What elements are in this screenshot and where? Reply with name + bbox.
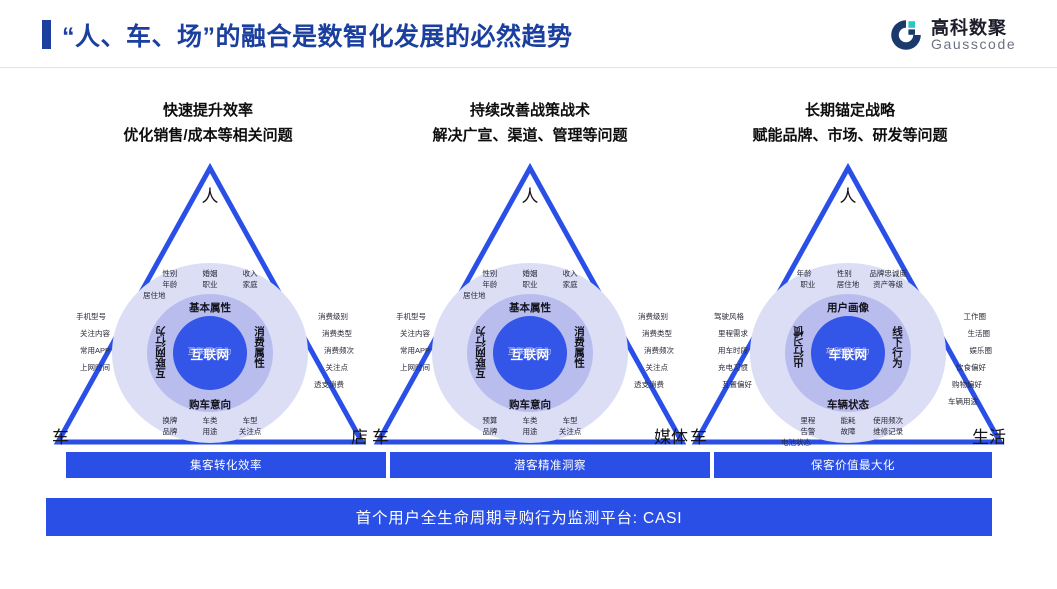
attribute-label: 用途 — [195, 426, 225, 437]
attribute-label: 年龄 — [155, 279, 185, 290]
attribute-label: 性别 — [155, 268, 185, 279]
label-row: 居住地 — [445, 290, 615, 301]
attribute-label: 透支消费 — [276, 376, 354, 393]
attribute-label: 性别 — [475, 268, 505, 279]
attribute-label: 手机型号 — [392, 308, 470, 325]
outcome-bar-2: 保客价值最大化 — [714, 452, 992, 478]
title-accent-bar — [42, 20, 51, 49]
labels-top-group: 性别 婚姻 收入 年龄 职业 家庭 居住地 — [125, 268, 295, 301]
attribute-label: 工作圈 — [914, 308, 992, 325]
attribute-label: 手机型号 — [72, 308, 150, 325]
attribute-label: 消费类型 — [596, 325, 674, 342]
attribute-label: 居住地 — [463, 290, 493, 301]
slide-header: “人、车、场”的融合是数智化发展的必然趋势 高科数聚 Gausscode — [0, 0, 1057, 68]
corner-label-bottom-left: 车 — [52, 423, 69, 448]
attribute-label: 性别 — [829, 268, 859, 279]
page-title: “人、车、场”的融合是数智化发展的必然趋势 — [62, 17, 573, 53]
corner-label-bottom-right: 媒体 — [654, 423, 688, 448]
header-divider — [0, 67, 1057, 68]
label-row: 品牌 用途 关注点 — [125, 426, 295, 437]
attribute-label: 消费级别 — [596, 308, 674, 325]
label-row: 性别 婚姻 收入 — [445, 268, 615, 279]
labels-top-group: 性别 婚姻 收入 年龄 职业 家庭 居住地 — [445, 268, 615, 301]
corner-label-bottom-left: 车 — [690, 423, 707, 448]
watermark-text: 互联网行为 — [508, 346, 553, 357]
outcome-bar-label: 集客转化效率 — [190, 457, 262, 473]
label-row: 品牌 用途 关注点 — [445, 426, 615, 437]
attribute-label: 职业 — [195, 279, 225, 290]
corner-label-apex: 人 — [840, 182, 857, 207]
attribute-label: 关注点 — [596, 359, 674, 376]
attribute-label: 告警 — [793, 426, 823, 437]
attribute-label: 维修记录 — [873, 426, 903, 437]
label-row: 年龄 职业 家庭 — [125, 279, 295, 290]
triangle-panel-0: 人 车 店 互联网 互联网行为 基本属性 购车意向 互联网行为 消费属性 性别 … — [50, 160, 370, 450]
attribute-label: 消费级别 — [276, 308, 354, 325]
attribute-label: 车类 — [515, 415, 545, 426]
label-row: 居住地 — [125, 290, 295, 301]
brand-logo: 高科数聚 Gausscode — [889, 14, 1039, 58]
attribute-label: 购物偏好 — [914, 376, 992, 393]
label-row: 年龄 职业 家庭 — [445, 279, 615, 290]
attribute-label: 关注内容 — [392, 325, 470, 342]
logo-en-name: Gausscode — [931, 36, 1016, 52]
attribute-label: 婚姻 — [515, 268, 545, 279]
attribute-label: 关注点 — [235, 426, 265, 437]
attribute-label: 故障 — [833, 426, 863, 437]
labels-bottom-group: 预算 车类 车型 品牌 用途 关注点 — [445, 415, 615, 437]
heading-line-1: 长期锚定战略 — [680, 98, 1020, 123]
attribute-label: 换牌 — [155, 415, 185, 426]
attribute-label: 常用APP — [72, 342, 150, 359]
attribute-label: 生活圈 — [914, 325, 992, 342]
label-row: 换牌 车类 车型 — [125, 415, 295, 426]
triangle-panel-2: 人 车 生活 车联网 车联网行为 用户画像 车辆状态 出行习惯 线下行为 年龄 … — [688, 160, 1008, 450]
labels-bottom-group: 里程 能耗 使用频次 告警 故障 维修记录 电池状态 — [763, 415, 933, 448]
corner-label-bottom-right: 生活 — [972, 423, 1006, 448]
watermark-text: 互联网行为 — [188, 346, 233, 357]
section-title-left: 互联网行为 — [473, 326, 488, 379]
section-title-right: 消费属性 — [572, 326, 587, 368]
column-heading-1: 持续改善战策战术 解决广宣、渠道、管理等问题 — [360, 98, 700, 148]
heading-line-1: 持续改善战策战术 — [360, 98, 700, 123]
attribute-label: 关注点 — [276, 359, 354, 376]
attribute-label: 年龄 — [789, 268, 819, 279]
attribute-label: 里程 — [793, 415, 823, 426]
attribute-label: 收入 — [555, 268, 585, 279]
attribute-label: 消费类型 — [276, 325, 354, 342]
attribute-label: 车类 — [195, 415, 225, 426]
section-title-top: 基本属性 — [189, 300, 231, 315]
outcome-bar-label: 保客价值最大化 — [811, 457, 895, 473]
watermark-text: 车联网行为 — [826, 346, 871, 357]
outcome-bar-1: 潜客精准洞察 — [390, 452, 710, 478]
attribute-label: 年龄 — [475, 279, 505, 290]
heading-line-2: 解决广宣、渠道、管理等问题 — [360, 123, 700, 148]
outcome-bar-label: 潜客精准洞察 — [514, 457, 586, 473]
corner-label-apex: 人 — [202, 182, 219, 207]
attribute-label: 家庭 — [235, 279, 265, 290]
attribute-label: 互置偏好 — [710, 376, 788, 393]
section-title-top: 用户画像 — [827, 300, 869, 315]
attribute-label: 居住地 — [143, 290, 173, 301]
labels-left-group: 手机型号 关注内容 常用APP 上网时间 — [392, 308, 470, 376]
slide-root: “人、车、场”的融合是数智化发展的必然趋势 高科数聚 Gausscode 快速提… — [0, 0, 1057, 589]
corner-label-apex: 人 — [522, 182, 539, 207]
footer-label: 首个用户全生命周期寻购行为监测平台: CASI — [356, 506, 683, 528]
attribute-label: 家庭 — [555, 279, 585, 290]
section-title-bottom: 购车意向 — [509, 397, 551, 412]
section-title-bottom: 车辆状态 — [827, 397, 869, 412]
attribute-label: 婚姻 — [195, 268, 225, 279]
attribute-label: 关注点 — [555, 426, 585, 437]
attribute-label: 用车时段 — [710, 342, 788, 359]
footer-banner: 首个用户全生命周期寻购行为监测平台: CASI — [46, 498, 992, 536]
attribute-label: 使用频次 — [873, 415, 903, 426]
corner-label-bottom-right: 店 — [351, 423, 368, 448]
label-row: 告警 故障 维修记录 — [763, 426, 933, 437]
label-row: 职业 居住地 资产等级 — [763, 279, 933, 290]
section-title-right: 线下行为 — [890, 326, 905, 368]
labels-top-group: 年龄 性别 品牌忠诚度 职业 居住地 资产等级 — [763, 268, 933, 290]
heading-line-1: 快速提升效率 — [38, 98, 378, 123]
gausscode-c-mark-icon — [889, 18, 923, 52]
attribute-label: 能耗 — [833, 415, 863, 426]
labels-right-group: 工作圈 生活圈 娱乐圈 饮食偏好 购物偏好 车辆用途 — [914, 308, 992, 410]
attribute-label: 预算 — [475, 415, 505, 426]
heading-line-2: 赋能品牌、市场、研发等问题 — [680, 123, 1020, 148]
labels-left-group: 手机型号 关注内容 常用APP 上网时间 — [72, 308, 150, 376]
attribute-label: 上网时间 — [392, 359, 470, 376]
attribute-label: 娱乐圈 — [914, 342, 992, 359]
label-row: 电池状态 — [763, 437, 933, 448]
corner-label-bottom-left: 车 — [372, 423, 389, 448]
attribute-label: 品牌忠诚度 — [869, 268, 907, 279]
label-row: 年龄 性别 品牌忠诚度 — [763, 268, 933, 279]
attribute-label: 车辆用途 — [914, 393, 992, 410]
column-heading-0: 快速提升效率 优化销售/成本等相关问题 — [38, 98, 378, 148]
triangle-panel-1: 人 车 媒体 互联网 互联网行为 基本属性 购车意向 互联网行为 消费属性 性别… — [370, 160, 690, 450]
attribute-label: 消费频次 — [596, 342, 674, 359]
attribute-label: 电池状态 — [781, 437, 811, 448]
attribute-label: 透支消费 — [596, 376, 674, 393]
attribute-label: 关注内容 — [72, 325, 150, 342]
attribute-label: 车型 — [235, 415, 265, 426]
attribute-label: 驾驶风格 — [710, 308, 788, 325]
attribute-label: 职业 — [793, 279, 823, 290]
attribute-label: 品牌 — [155, 426, 185, 437]
attribute-label: 上网时间 — [72, 359, 150, 376]
attribute-label: 品牌 — [475, 426, 505, 437]
labels-bottom-group: 换牌 车类 车型 品牌 用途 关注点 — [125, 415, 295, 437]
attribute-label: 资产等级 — [873, 279, 903, 290]
attribute-label: 车型 — [555, 415, 585, 426]
labels-right-group: 消费级别 消费类型 消费频次 关注点 透支消费 — [596, 308, 674, 393]
section-title-right: 消费属性 — [252, 326, 267, 368]
attribute-label: 里程需求 — [710, 325, 788, 342]
labels-right-group: 消费级别 消费类型 消费频次 关注点 透支消费 — [276, 308, 354, 393]
label-row: 预算 车类 车型 — [445, 415, 615, 426]
attribute-label: 消费频次 — [276, 342, 354, 359]
section-title-left: 出行习惯 — [791, 326, 806, 368]
attribute-label: 收入 — [235, 268, 265, 279]
attribute-label: 充电习惯 — [710, 359, 788, 376]
labels-left-group: 驾驶风格 里程需求 用车时段 充电习惯 互置偏好 — [710, 308, 788, 393]
section-title-top: 基本属性 — [509, 300, 551, 315]
attribute-label: 饮食偏好 — [914, 359, 992, 376]
heading-line-2: 优化销售/成本等相关问题 — [38, 123, 378, 148]
outcome-bar-0: 集客转化效率 — [66, 452, 386, 478]
attribute-label: 用途 — [515, 426, 545, 437]
label-row: 里程 能耗 使用频次 — [763, 415, 933, 426]
section-title-bottom: 购车意向 — [189, 397, 231, 412]
label-row: 性别 婚姻 收入 — [125, 268, 295, 279]
attribute-label: 职业 — [515, 279, 545, 290]
section-title-left: 互联网行为 — [153, 326, 168, 379]
attribute-label: 居住地 — [833, 279, 863, 290]
attribute-label: 常用APP — [392, 342, 470, 359]
column-heading-2: 长期锚定战略 赋能品牌、市场、研发等问题 — [680, 98, 1020, 148]
